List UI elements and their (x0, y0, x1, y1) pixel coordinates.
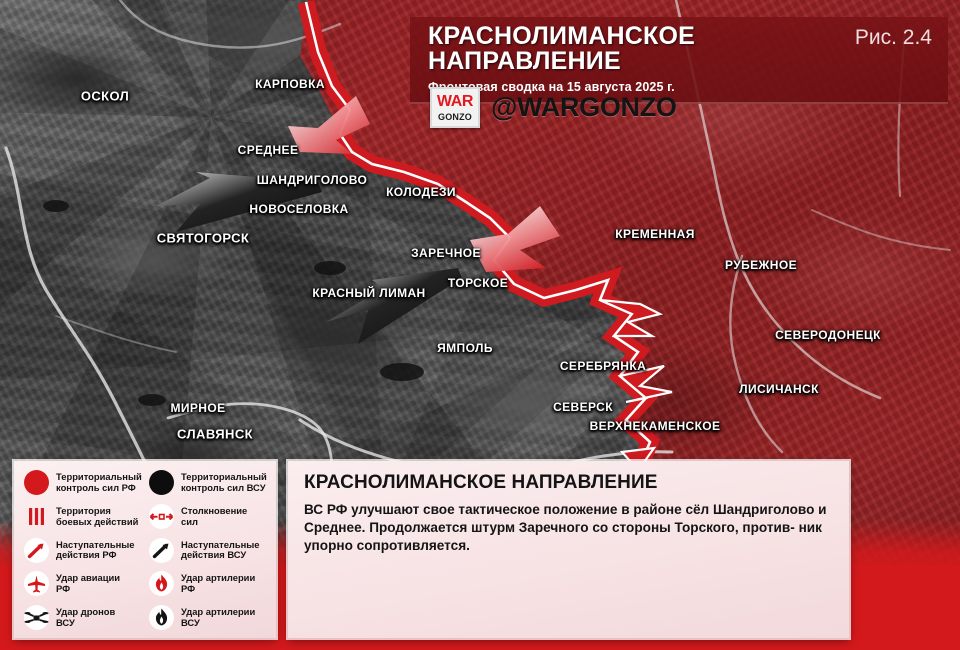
legend-item-ukr-artillery-strike: Удар артилерииВСУ (149, 605, 268, 630)
summary-heading: КРАСНОЛИМАНСКОЕ НАПРАВЛЕНИЕ (304, 472, 833, 494)
wargonzo-branding: WAR GONZO @WARGONZO (430, 87, 677, 128)
red-diagonal-arrow-icon (24, 538, 49, 563)
black-filled-circle-icon (149, 470, 174, 495)
legend-label-rf-territorial-control: Территориальныйконтроль сил РФ (56, 470, 142, 494)
summary-body: ВС РФ улучшают свое тактическое положени… (304, 501, 833, 555)
ukr-offensive-arrow-torskoe (326, 268, 462, 344)
legend-label-ukr-territorial-control: Территориальныйконтроль сил ВСУ (181, 470, 267, 494)
wargonzo-logo-icon: WAR GONZO (430, 87, 480, 128)
legend-column-left: Территориальныйконтроль сил РФ Территори… (24, 470, 143, 630)
legend-label-rf-air-strike: Удар авиацииРФ (56, 571, 120, 595)
black-diagonal-arrow-icon (149, 538, 174, 563)
figure-number: Рис. 2.4 (855, 27, 932, 48)
legend-item-rf-artillery-strike: Удар артилерииРФ (149, 571, 268, 596)
logo-war-text: WAR (437, 94, 473, 110)
legend-column-right: Территориальныйконтроль сил ВСУ Столкнов… (143, 470, 268, 630)
ukr-offensive-arrow-shandrigolovo (156, 172, 322, 232)
legend-item-ukr-territorial-control: Территориальныйконтроль сил ВСУ (149, 470, 268, 495)
legend-item-rf-offensive: Наступательныедействия РФ (24, 538, 143, 563)
legend-item-ukr-drone-strike: Удар дроновВСУ (24, 605, 143, 630)
black-flame-icon (149, 605, 174, 630)
legend-item-rf-air-strike: Удар авиацииРФ (24, 571, 143, 596)
logo-gonzo-text: GONZO (438, 113, 472, 122)
red-filled-circle-icon (24, 470, 49, 495)
black-drone-icon (24, 605, 49, 630)
legend-item-combat-zone: Территориябоевых действий (24, 504, 143, 529)
map-infographic: ОСКОЛКАРПОВКАСРЕДНЕЕШАНДРИГОЛОВОКОЛОДЕЗИ… (0, 0, 960, 650)
legend-label-rf-artillery-strike: Удар артилерииРФ (181, 571, 255, 595)
red-double-arrow-icon (149, 504, 174, 529)
legend-label-ukr-artillery-strike: Удар артилерииВСУ (181, 605, 255, 629)
legend-item-ukr-offensive: Наступательныедействия ВСУ (149, 538, 268, 563)
legend-label-clash-of-forces: Столкновениесил (181, 504, 247, 528)
legend-item-clash-of-forces: Столкновениесил (149, 504, 268, 529)
legend-label-ukr-drone-strike: Удар дроновВСУ (56, 605, 115, 629)
wargonzo-handle: @WARGONZO (491, 92, 677, 123)
legend-label-ukr-offensive: Наступательныедействия ВСУ (181, 538, 260, 562)
red-flame-icon (149, 571, 174, 596)
legend-label-rf-offensive: Наступательныедействия РФ (56, 538, 135, 562)
red-hatched-bars-icon (24, 504, 49, 529)
legend-panel: Территориальныйконтроль сил РФ Территори… (14, 461, 276, 638)
legend-item-rf-territorial-control: Территориальныйконтроль сил РФ (24, 470, 143, 495)
red-plane-icon (24, 571, 49, 596)
header-title: КРАСНОЛИМАНСКОЕ НАПРАВЛЕНИЕ (428, 24, 843, 74)
legend-label-combat-zone: Территориябоевых действий (56, 504, 138, 528)
summary-panel: КРАСНОЛИМАНСКОЕ НАПРАВЛЕНИЕ ВС РФ улучша… (288, 461, 849, 638)
